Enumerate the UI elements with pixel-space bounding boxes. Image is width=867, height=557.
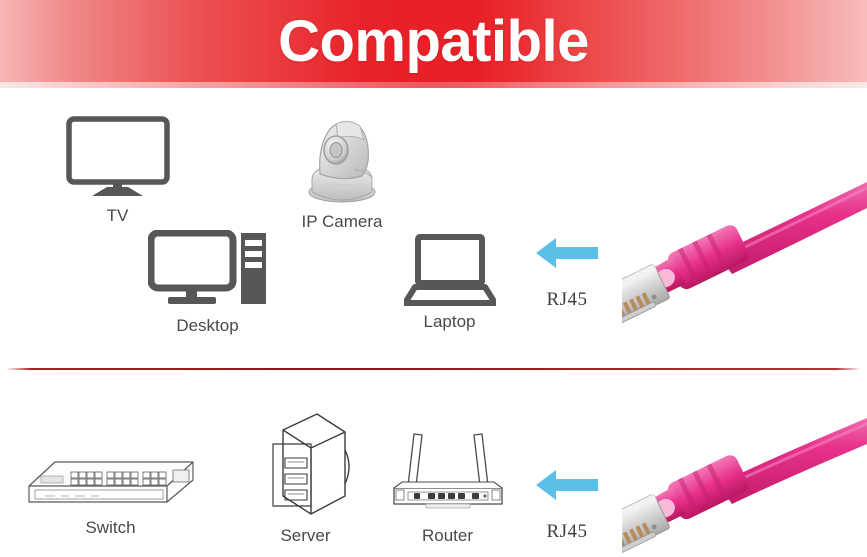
tv-icon <box>40 116 195 200</box>
device-switch: Switch <box>18 440 203 538</box>
pink-ethernet-cable-rj45-top <box>622 178 867 330</box>
device-router: Router <box>385 420 510 546</box>
device-desktop: Desktop <box>135 230 280 336</box>
device-server: Server <box>258 410 353 546</box>
arrow-left-icon <box>524 468 610 507</box>
device-label: Server <box>258 526 353 546</box>
device-label: Switch <box>18 518 203 538</box>
network-switch-icon <box>18 440 203 512</box>
rj45-connector-top: RJ45 <box>524 236 610 311</box>
section-divider <box>6 368 861 370</box>
device-label: Laptop <box>392 312 507 332</box>
laptop-icon <box>392 234 507 306</box>
header-banner: Compatible <box>0 0 867 88</box>
arrow-left-icon <box>524 236 610 275</box>
compatibility-diagram: Compatible TV Desktop <box>0 0 867 557</box>
desktop-computer-icon <box>135 230 280 310</box>
rj45-connector-bottom: RJ45 <box>524 468 610 543</box>
device-laptop: Laptop <box>392 234 507 332</box>
device-tv: TV <box>40 116 195 226</box>
wireless-router-icon <box>385 420 510 520</box>
device-label: IP Camera <box>282 212 402 232</box>
device-ip-camera: IP Camera <box>282 108 402 232</box>
device-label: Desktop <box>135 316 280 336</box>
device-label: TV <box>40 206 195 226</box>
device-label: Router <box>385 526 510 546</box>
server-rack-icon <box>258 410 353 520</box>
rj45-label: RJ45 <box>524 521 610 543</box>
rj45-label: RJ45 <box>524 289 610 311</box>
page-title: Compatible <box>278 13 589 71</box>
pink-ethernet-cable-rj45-bottom <box>622 418 867 557</box>
ip-camera-icon <box>282 108 402 206</box>
